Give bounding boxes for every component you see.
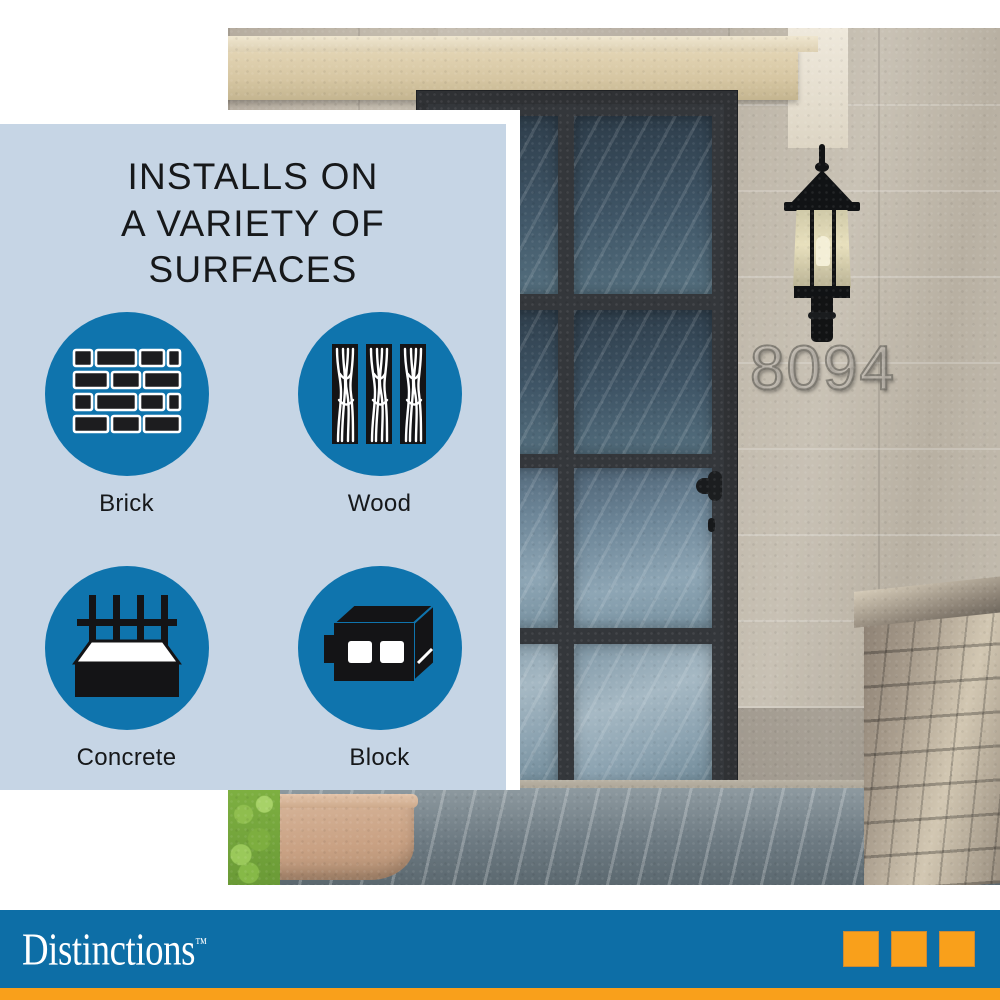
concrete-badge: [45, 566, 209, 730]
infographic-root: 8094 INSTALLS ON A VARIETY OF SURFACES: [0, 0, 1000, 1000]
surface-label: Brick: [99, 490, 154, 518]
trademark-symbol: ™: [195, 936, 207, 952]
brick-badge: [45, 312, 209, 476]
surface-item-concrete[interactable]: Concrete: [0, 566, 253, 772]
block-badge: [298, 566, 462, 730]
wood-badge: [298, 312, 462, 476]
accent-square: [892, 932, 926, 966]
bottom-accent-strip: [0, 988, 1000, 1000]
surface-label: Wood: [348, 490, 411, 518]
surface-grid: Brick: [0, 312, 506, 772]
accent-square: [844, 932, 878, 966]
concrete-rebar-icon: [69, 593, 185, 703]
brand-logo: Distinctions™: [22, 923, 207, 976]
surface-item-brick[interactable]: Brick: [0, 312, 253, 518]
surface-item-block[interactable]: Block: [253, 566, 506, 772]
surface-item-wood[interactable]: Wood: [253, 312, 506, 518]
brand-bar: Distinctions™: [0, 910, 1000, 988]
info-panel-border: INSTALLS ON A VARIETY OF SURFACES: [0, 110, 520, 790]
surface-label: Block: [349, 744, 409, 772]
brand-logo-text: Distinctions: [22, 924, 195, 975]
accent-squares: [844, 932, 974, 966]
surface-label: Concrete: [77, 744, 177, 772]
wood-planks-icon: [328, 342, 432, 446]
cinder-block-icon: [322, 601, 438, 695]
accent-square: [940, 932, 974, 966]
info-panel: INSTALLS ON A VARIETY OF SURFACES: [0, 124, 506, 790]
brick-wall-icon: [72, 348, 182, 440]
page-title: INSTALLS ON A VARIETY OF SURFACES: [0, 124, 506, 294]
